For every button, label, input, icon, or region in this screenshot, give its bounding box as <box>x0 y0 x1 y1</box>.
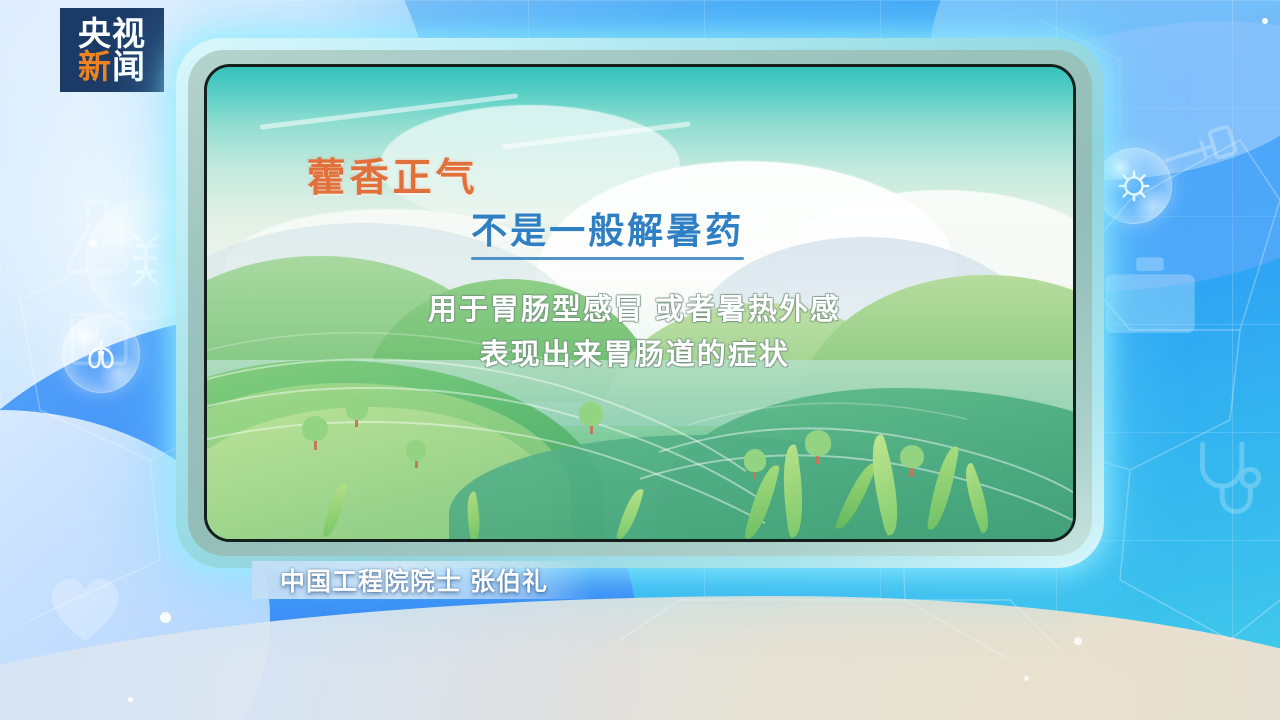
tree <box>744 449 766 479</box>
screen-device-frame: 藿香正气 不是一般解暑药 用于胃肠型感冒 或者暑热外感 表现出来胃肠道的症状 <box>176 38 1104 568</box>
screen-content: 藿香正气 不是一般解暑药 用于胃肠型感冒 或者暑热外感 表现出来胃肠道的症状 <box>204 64 1076 542</box>
logo-line-1: 央视 <box>78 17 146 50</box>
sparkle-dot <box>1074 637 1082 645</box>
logo-text-wen: 闻 <box>112 50 146 83</box>
tree <box>579 402 603 434</box>
stethoscope-icon <box>1180 430 1270 520</box>
sparkle-dot <box>160 612 171 623</box>
screen-bezel: 藿香正气 不是一般解暑药 用于胃肠型感冒 或者暑热外感 表现出来胃肠道的症状 <box>188 50 1092 556</box>
sparkle-dot <box>90 240 97 247</box>
lungs-bubble-icon <box>62 315 140 393</box>
virus-bubble-icon <box>1096 148 1172 224</box>
body-line-2: 表现出来胃肠道的症状 <box>480 331 790 373</box>
logo-text-yangshi: 央视 <box>78 17 146 50</box>
tree <box>302 416 328 450</box>
tree <box>346 397 368 427</box>
sparkle-dot <box>1262 18 1268 24</box>
logo-text-xin: 新 <box>78 50 112 83</box>
headline-blue-wrapper: 不是一般解暑药 <box>471 202 744 260</box>
logo-line-2: 新 闻 <box>78 50 146 83</box>
sparkle-dot <box>128 697 133 702</box>
body-line-1: 用于胃肠型感冒 或者暑热外感 <box>428 286 841 328</box>
sparkle-dot <box>1024 676 1029 681</box>
headline-orange: 藿香正气 <box>307 147 479 203</box>
heart-icon <box>42 566 128 644</box>
speaker-caption-text: 中国工程院院士 张伯礼 <box>280 562 548 598</box>
headline-blue: 不是一般解暑药 <box>471 202 744 254</box>
broadcast-frame: 央视 新 闻 <box>0 0 1280 720</box>
tree <box>805 430 831 464</box>
briefcase-icon <box>1095 240 1205 350</box>
speaker-caption-bar: 中国工程院院士 张伯礼 <box>252 561 592 599</box>
tree <box>900 445 924 477</box>
cctv-news-logo: 央视 新 闻 <box>60 8 164 92</box>
tree <box>406 440 426 468</box>
headline-blue-underline <box>471 257 744 260</box>
